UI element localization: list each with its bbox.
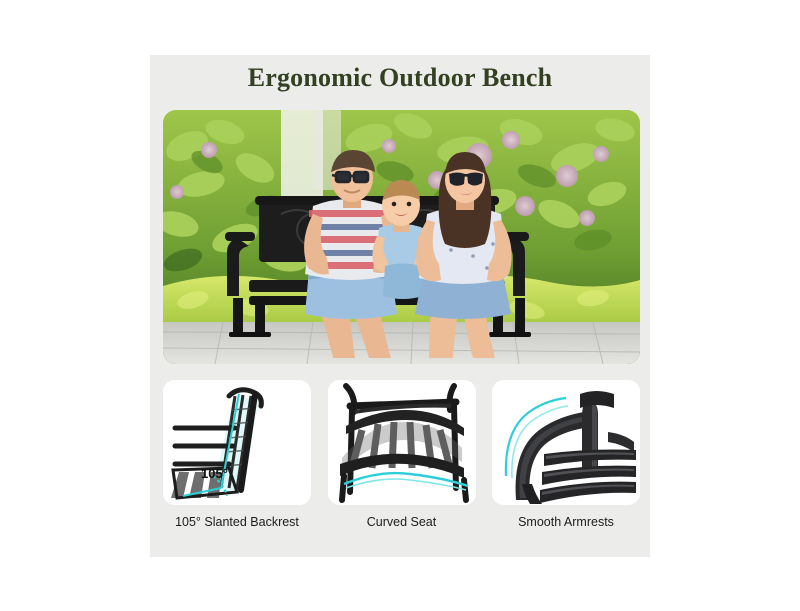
content-panel: Ergonomic Outdoor Bench [150,55,650,557]
feature-image-smooth-armrests [492,380,640,505]
bench-side-profile-icon: 105° [163,380,311,505]
feature-label-smooth-armrests: Smooth Armrests [518,515,614,529]
hero-illustration [163,110,640,364]
bench-slatted-seat-icon [328,380,476,505]
feature-image-curved-seat [328,380,476,505]
feature-label-curved-seat: Curved Seat [367,515,436,529]
angle-annotation: 105° [201,466,228,481]
hero-image [163,110,640,364]
feature-card-row: 105° 105° Slanted Backrest [163,380,640,550]
feature-label-slanted-backrest: 105° Slanted Backrest [175,515,299,529]
product-feature-page: Ergonomic Outdoor Bench [0,0,800,611]
feature-card-curved-seat[interactable]: Curved Seat [328,380,476,550]
feature-card-slanted-backrest[interactable]: 105° 105° Slanted Backrest [163,380,311,550]
bench-armrest-closeup-icon [492,380,640,505]
eyeglasses-icon [332,172,368,182]
feature-card-smooth-armrests[interactable]: Smooth Armrests [492,380,640,550]
feature-image-slanted-backrest: 105° [163,380,311,505]
page-title: Ergonomic Outdoor Bench [150,63,650,93]
